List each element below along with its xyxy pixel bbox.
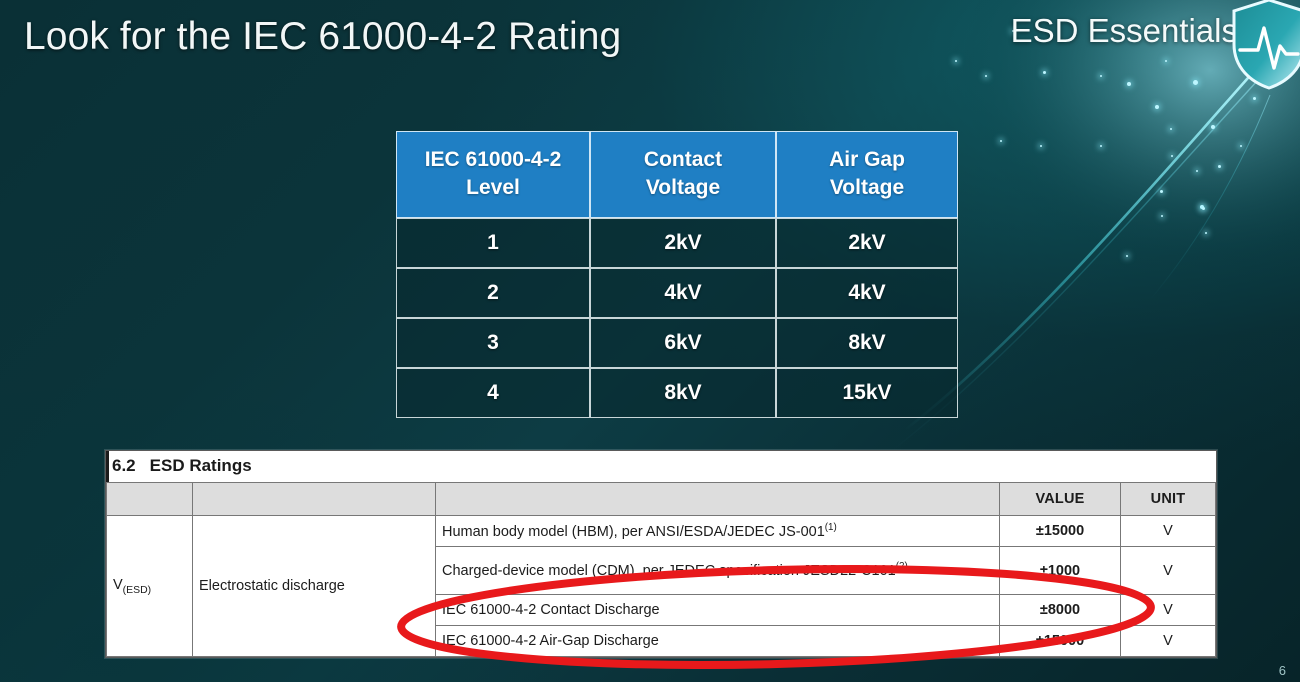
cell-description: Charged-device model (CDM), per JEDEC sp…: [436, 547, 1000, 595]
cell-parameter: Electrostatic discharge: [193, 516, 436, 657]
cell-description: IEC 61000-4-2 Air-Gap Discharge: [436, 626, 1000, 657]
header-contact-voltage: Contact Voltage: [590, 131, 776, 218]
star-dot: [1160, 190, 1163, 193]
cell-value: ±8000: [1000, 595, 1121, 626]
star-dot: [1196, 170, 1198, 172]
star-dot: [1040, 145, 1042, 147]
star-dot: [1127, 82, 1131, 86]
cell-description: IEC 61000-4-2 Contact Discharge: [436, 595, 1000, 626]
table-row: 1 2kV 2kV: [396, 218, 958, 268]
cell-level: 2: [396, 268, 590, 318]
star-dot: [1043, 71, 1046, 74]
header-line-2: Level: [466, 176, 520, 199]
cell-unit: V: [1121, 547, 1216, 595]
star-dot: [1211, 125, 1215, 129]
header-parameter-blank: [193, 483, 436, 516]
header-unit: UNIT: [1121, 483, 1216, 516]
table-row: V(ESD) Electrostatic discharge Human bod…: [107, 516, 1216, 547]
description-text: Human body model (HBM), per ANSI/ESDA/JE…: [442, 523, 825, 539]
datasheet-section-title: 6.2ESD Ratings: [106, 451, 1216, 482]
esd-ratings-table: VALUE UNIT V(ESD) Electrostatic discharg…: [106, 482, 1216, 657]
cell-value: ±15000: [1000, 516, 1121, 547]
header-iec-level: IEC 61000-4-2 Level: [396, 131, 590, 218]
header-symbol-blank: [107, 483, 193, 516]
star-dot: [1100, 75, 1102, 77]
star-dot: [1218, 165, 1221, 168]
star-dot: [955, 60, 957, 62]
cell-unit: V: [1121, 516, 1216, 547]
symbol-subscript: (ESD): [123, 584, 151, 595]
page-number: 6: [1279, 663, 1286, 678]
table-header-row: IEC 61000-4-2 Level Contact Voltage Air …: [396, 131, 958, 218]
star-dot: [1100, 145, 1102, 147]
datasheet-excerpt: 6.2ESD Ratings VALUE UNIT V(ESD) Electro…: [105, 450, 1217, 658]
cell-contact: 6kV: [590, 318, 776, 368]
cell-description: Human body model (HBM), per ANSI/ESDA/JE…: [436, 516, 1000, 547]
table-row: 2 4kV 4kV: [396, 268, 958, 318]
cell-contact: 8kV: [590, 368, 776, 418]
iec-level-table: IEC 61000-4-2 Level Contact Voltage Air …: [396, 131, 958, 418]
header-value: VALUE: [1000, 483, 1121, 516]
cell-air-gap: 8kV: [776, 318, 958, 368]
header-line-1: Contact: [644, 148, 722, 171]
brand-label: ESD Essentials: [1011, 12, 1238, 50]
star-dot: [985, 75, 987, 77]
star-dot: [1155, 105, 1159, 109]
header-line-2: Voltage: [830, 176, 904, 199]
header-line-1: IEC 61000-4-2: [425, 148, 562, 171]
cell-air-gap: 2kV: [776, 218, 958, 268]
shield-pulse-icon: [1230, 0, 1300, 90]
cell-symbol: V(ESD): [107, 516, 193, 657]
cell-level: 1: [396, 218, 590, 268]
star-dot: [1193, 80, 1198, 85]
table-row: 4 8kV 15kV: [396, 368, 958, 418]
header-air-gap-voltage: Air Gap Voltage: [776, 131, 958, 218]
section-number: 6.2: [112, 456, 136, 475]
table-header-row: VALUE UNIT: [107, 483, 1216, 516]
star-dot: [1205, 232, 1207, 234]
star-dot: [1171, 155, 1173, 157]
footnote-marker: (2): [896, 561, 908, 572]
footnote-marker: (1): [825, 522, 837, 533]
star-dot: [1200, 205, 1204, 209]
header-line-1: Air Gap: [829, 148, 905, 171]
header-line-2: Voltage: [646, 176, 720, 199]
star-dot: [1170, 128, 1172, 130]
star-dot: [1126, 255, 1128, 257]
section-name: ESD Ratings: [150, 456, 252, 475]
cell-unit: V: [1121, 595, 1216, 626]
description-text: Charged-device model (CDM), per JEDEC sp…: [442, 563, 896, 579]
symbol-text: V: [113, 577, 123, 593]
star-dot: [1253, 97, 1256, 100]
slide-canvas: Look for the IEC 61000-4-2 Rating ESD Es…: [0, 0, 1300, 682]
cell-air-gap: 15kV: [776, 368, 958, 418]
cell-value: ±15000: [1000, 626, 1121, 657]
cell-contact: 4kV: [590, 268, 776, 318]
star-dot: [1202, 207, 1205, 210]
cell-value: ±1000: [1000, 547, 1121, 595]
cell-unit: V: [1121, 626, 1216, 657]
cell-contact: 2kV: [590, 218, 776, 268]
star-dot: [1240, 145, 1242, 147]
cell-air-gap: 4kV: [776, 268, 958, 318]
star-dot: [1000, 140, 1002, 142]
star-dot: [1165, 60, 1167, 62]
star-dot: [1161, 215, 1163, 217]
cell-level: 3: [396, 318, 590, 368]
cell-level: 4: [396, 368, 590, 418]
table-row: 3 6kV 8kV: [396, 318, 958, 368]
header-description-blank: [436, 483, 1000, 516]
slide-title: Look for the IEC 61000-4-2 Rating: [24, 15, 621, 59]
